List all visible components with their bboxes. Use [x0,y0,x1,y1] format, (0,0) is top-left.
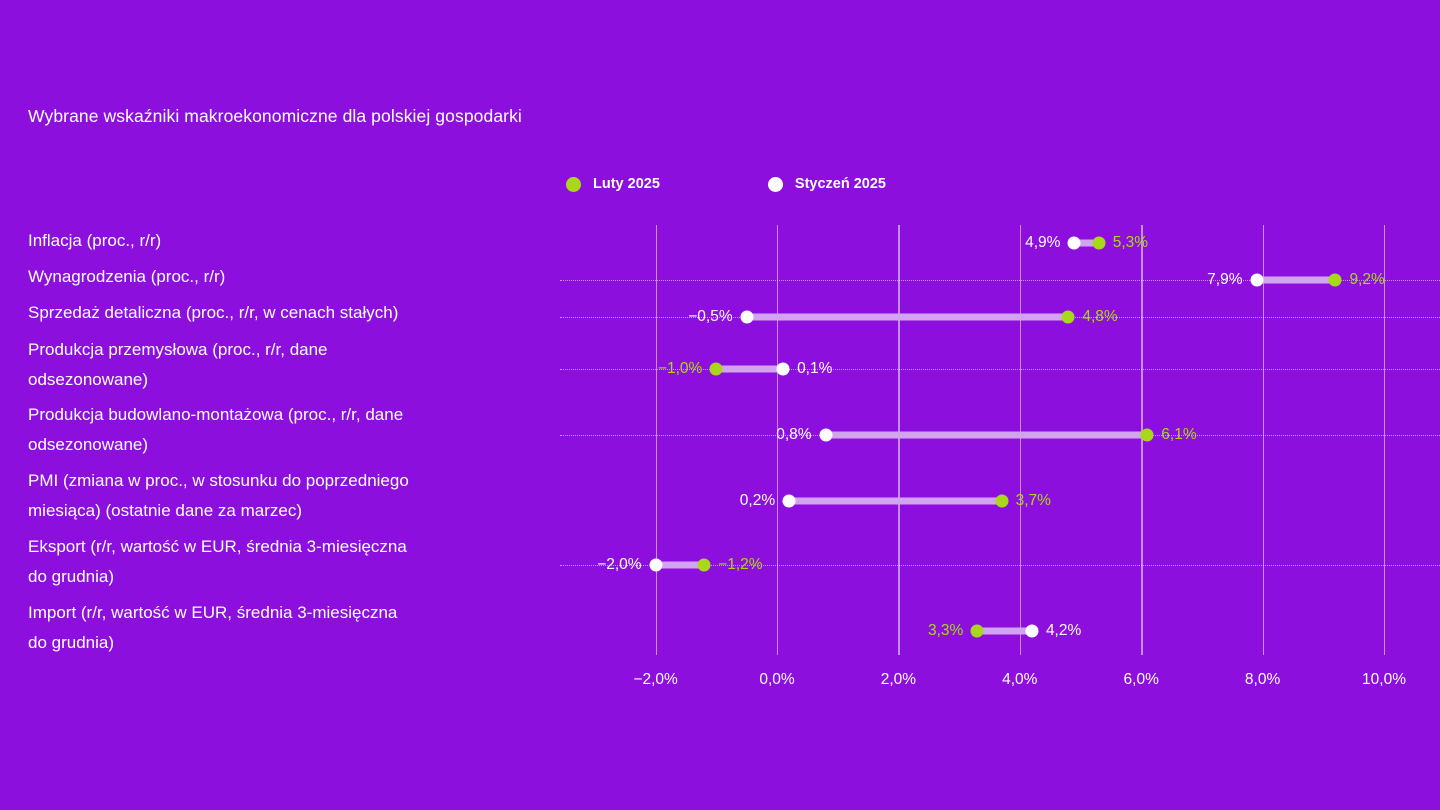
data-point-current[interactable] [698,559,711,572]
category-label: Eksport (r/r, wartość w EUR, średnia 3-m… [28,532,407,562]
data-point-current[interactable] [971,625,984,638]
x-axis-tick-label: 4,0% [1002,671,1037,689]
x-axis-tick-label: 0,0% [759,671,794,689]
data-point-current[interactable] [1062,311,1075,324]
data-point-previous[interactable] [783,495,796,508]
data-point-previous[interactable] [1025,625,1038,638]
data-point-previous[interactable] [1250,274,1263,287]
plot-area: −2,0%0,0%2,0%4,0%6,0%8,0%10,0%4,9%5,3%7,… [560,0,1440,810]
x-axis-tick-label: 10,0% [1362,671,1406,689]
dumbbell-connector [826,432,1148,439]
category-label: Sprzedaż detaliczna (proc., r/r, w cenac… [28,298,398,328]
category-label: odsezonowane) [28,365,148,395]
x-gridline [656,225,657,655]
data-point-previous[interactable] [649,559,662,572]
x-axis-tick-label: −2,0% [633,671,677,689]
value-label-current: 9,2% [1349,271,1384,289]
value-label-previous: 7,9% [1207,271,1242,289]
data-point-previous[interactable] [1068,237,1081,250]
value-label-previous: −0,5% [688,308,732,326]
value-label-current: 6,1% [1161,426,1196,444]
chart-page: { "title": "Wybrane wskaźniki makroekono… [0,0,1440,810]
category-label: Inflacja (proc., r/r) [28,226,161,256]
dumbbell-connector [789,498,1001,505]
value-label-previous: 4,2% [1046,622,1081,640]
page-title: Wybrane wskaźniki makroekonomiczne dla p… [28,106,522,127]
data-point-previous[interactable] [740,311,753,324]
value-label-previous: −2,0% [597,556,641,574]
category-label: Produkcja przemysłowa (proc., r/r, dane [28,335,328,365]
value-label-current: 3,3% [928,622,963,640]
x-gridline [898,225,899,655]
value-label-previous: 0,8% [776,426,811,444]
data-point-previous[interactable] [777,363,790,376]
value-label-current: −1,0% [658,360,702,378]
category-label: Import (r/r, wartość w EUR, średnia 3-mi… [28,598,397,628]
data-point-previous[interactable] [819,429,832,442]
dumbbell-connector [977,628,1032,635]
x-gridline [1263,225,1264,655]
value-label-current: −1,2% [718,556,762,574]
category-label: odsezonowane) [28,430,148,460]
category-label: do grudnia) [28,562,114,592]
category-label: miesiąca) (ostatnie dane za marzec) [28,496,302,526]
x-gridline [1020,225,1021,655]
category-label: PMI (zmiana w proc., w stosunku do poprz… [28,466,409,496]
value-label-current: 5,3% [1113,234,1148,252]
dumbbell-connector [716,366,783,373]
data-point-current[interactable] [1329,274,1342,287]
category-label: Produkcja budowlano-montażowa (proc., r/… [28,400,403,430]
category-label: Wynagrodzenia (proc., r/r) [28,262,225,292]
value-label-previous: 0,2% [740,492,775,510]
value-label-previous: 0,1% [797,360,832,378]
data-point-current[interactable] [1092,237,1105,250]
category-label: do grudnia) [28,628,114,658]
value-label-previous: 4,9% [1025,234,1060,252]
data-point-current[interactable] [1141,429,1154,442]
value-label-current: 4,8% [1082,308,1117,326]
x-gridline [1384,225,1385,655]
x-axis-tick-label: 2,0% [881,671,916,689]
x-axis-tick-label: 6,0% [1124,671,1159,689]
data-point-current[interactable] [710,363,723,376]
x-axis-tick-label: 8,0% [1245,671,1280,689]
data-point-current[interactable] [995,495,1008,508]
value-label-current: 3,7% [1016,492,1051,510]
dumbbell-connector [1257,277,1336,284]
dumbbell-connector [747,314,1069,321]
